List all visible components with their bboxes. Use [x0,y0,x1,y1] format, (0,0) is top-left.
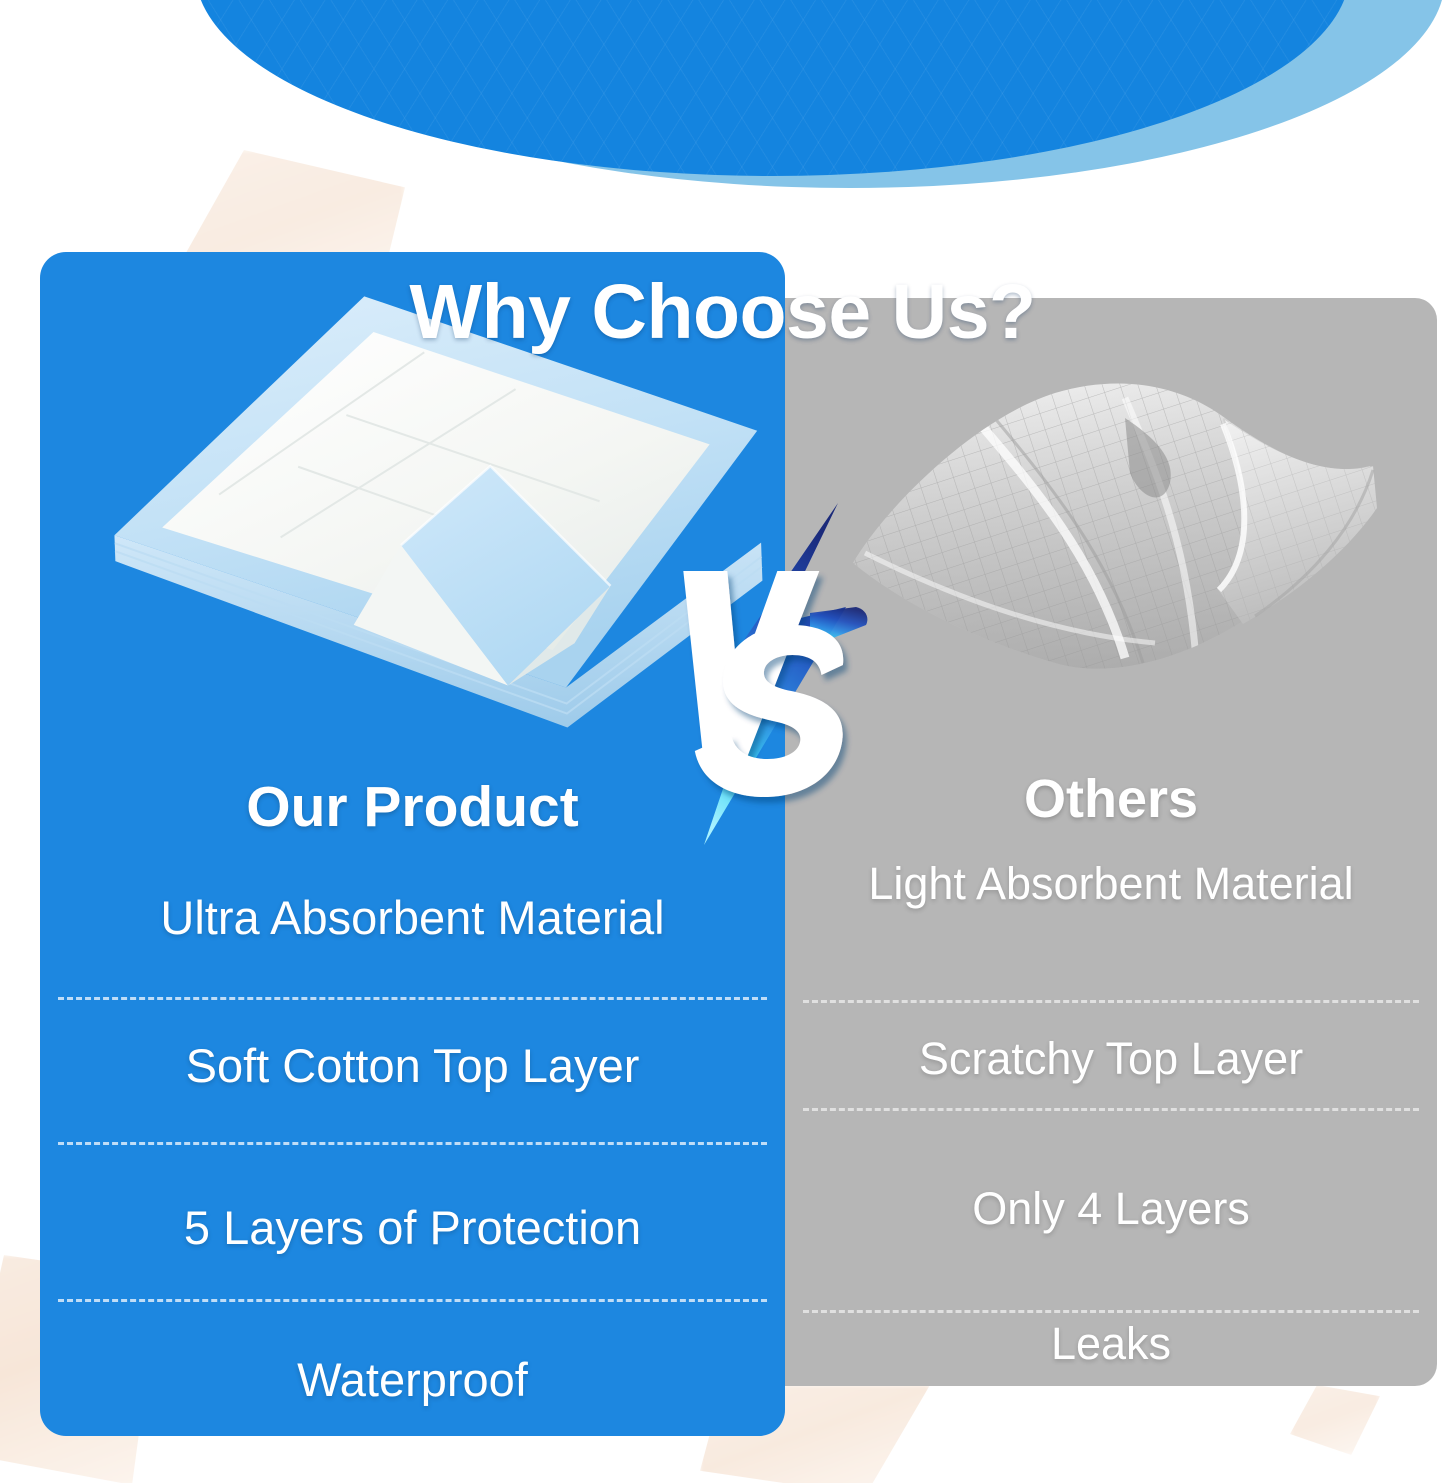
page-title: Why Choose Us? [0,268,1445,357]
header-banner [0,0,1445,190]
our-feature-3: 5 Layers of Protection [40,1200,785,1255]
our-divider-2 [58,1142,767,1145]
background-blob-bottom-right [1290,1385,1380,1455]
others-feature-3: Only 4 Layers [785,1183,1437,1235]
banner-front-ellipse [195,0,1350,176]
others-feature-2: Scratchy Top Layer [785,1033,1437,1085]
others-divider-3 [803,1310,1419,1313]
others-divider-1 [803,1000,1419,1003]
our-feature-2: Soft Cotton Top Layer [40,1038,785,1093]
vs-badge [660,495,920,865]
our-feature-4: Waterproof [40,1352,785,1407]
others-feature-4: Leaks [785,1318,1437,1370]
our-feature-1: Ultra Absorbent Material [40,890,785,945]
our-divider-1 [58,997,767,1000]
others-divider-2 [803,1108,1419,1111]
infographic-page: Why Choose Us? [0,0,1445,1483]
banner-texture [195,0,1350,176]
our-divider-3 [58,1299,767,1302]
others-feature-1: Light Absorbent Material [785,858,1437,910]
